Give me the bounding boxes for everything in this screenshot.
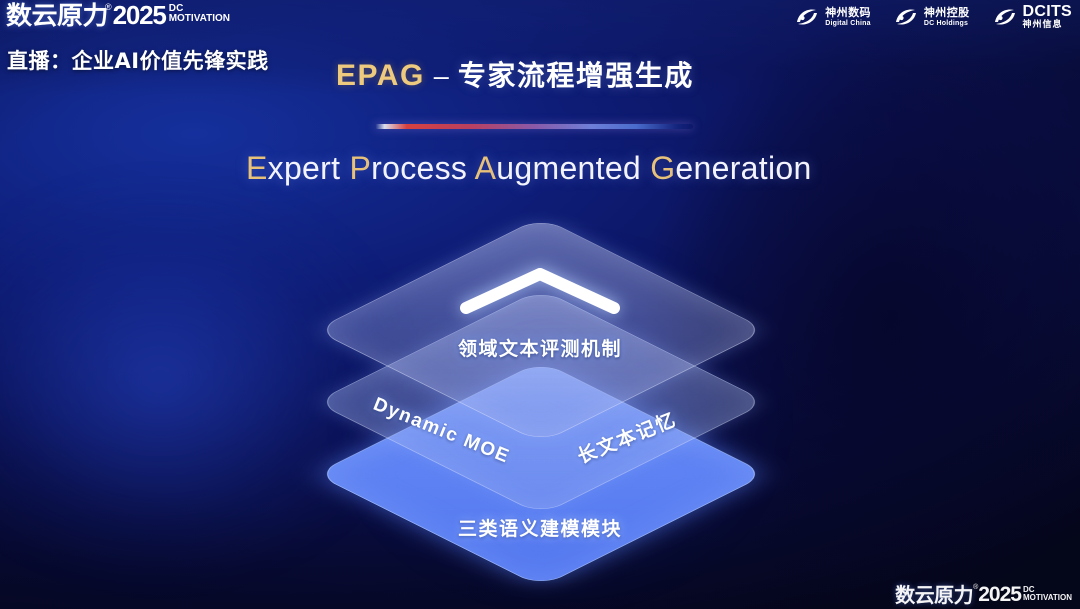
page-title: EPAG – 专家流程增强生成 [336, 54, 694, 94]
subtitle-segment-5: ugmented [496, 150, 650, 186]
subtitle-segment-1: xpert [268, 150, 350, 186]
watermark-cn: 数云原力 [895, 583, 973, 607]
brand-name-cn: 神州控股 [924, 7, 970, 18]
subtitle-segment-4: A [475, 150, 497, 186]
page-title-acronym: EPAG [336, 59, 425, 93]
event-logo: 数云原力 ® 2025 DC MOTIVATION [6, 1, 230, 30]
brand-logo-row: 神州数码 Digital China 神州控股 DC Holdings [794, 4, 1072, 30]
event-logo-year: 2025 [113, 1, 166, 30]
brand-text: 神州数码 Digital China [825, 7, 871, 27]
subtitle-segment-6: G [650, 150, 675, 186]
swirl-icon [992, 7, 1018, 27]
brand-text: DCITS 神州信息 [1023, 4, 1073, 30]
slide-canvas: 数云原力 ® 2025 DC MOTIVATION 直播：企业AI价值先锋实践 … [0, 0, 1080, 609]
page-title-cn: 专家流程增强生成 [458, 54, 694, 94]
page-title-dash: – [434, 61, 449, 92]
brand-digital-china: 神州数码 Digital China [794, 7, 871, 27]
brand-text: 神州控股 DC Holdings [924, 7, 970, 27]
title-divider [375, 124, 693, 129]
watermark-year: 2025 [978, 583, 1021, 607]
subtitle-segment-0: E [246, 150, 268, 186]
brand-name-cn: 神州数码 [825, 7, 871, 18]
brand-name-en: Digital China [825, 20, 871, 27]
event-logo-dc-block: DC MOTIVATION [169, 4, 230, 24]
watermark-dc-block: DC MOTIVATION [1023, 586, 1072, 602]
swirl-icon [794, 7, 820, 27]
live-stream-title: 直播：企业AI价值先锋实践 [7, 45, 269, 75]
subtitle-segment-3: rocess [371, 150, 474, 186]
subtitle-segment-7: eneration [675, 150, 811, 186]
brand-name-en: DCITS [1023, 4, 1073, 20]
subtitle-segment-2: P [350, 150, 372, 186]
swirl-icon [893, 7, 919, 27]
brand-name-en: DC Holdings [924, 20, 970, 27]
layer-stack-diagram: 领域文本评测机制 Dynamic MOE 长文本记忆 三类语义建模模块 [266, 212, 814, 592]
brand-dc-holdings: 神州控股 DC Holdings [893, 7, 970, 27]
page-subtitle: Expert Process Augmented Generation [246, 150, 812, 187]
brand-name-cn: 神州信息 [1023, 21, 1073, 30]
brand-dcits: DCITS 神州信息 [992, 4, 1073, 30]
event-logo-motivation: MOTIVATION [169, 14, 230, 24]
event-logo-cn: 数云原力 [6, 1, 108, 30]
footer-watermark-logo: 数云原力 ® 2025 DC MOTIVATION [895, 583, 1072, 607]
watermark-motivation: MOTIVATION [1023, 594, 1072, 602]
